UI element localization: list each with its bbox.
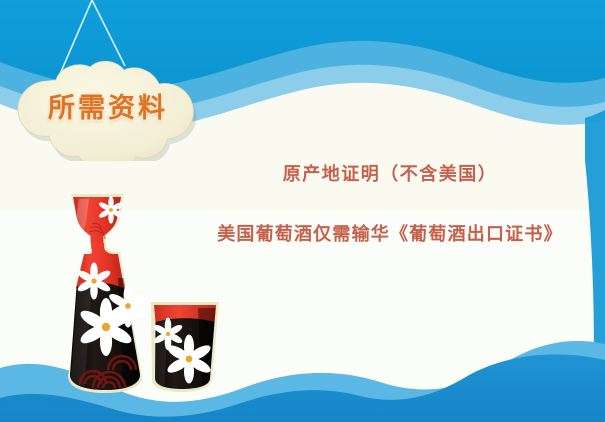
cloud-label-title: 所需资料 [8,55,208,155]
sake-set-illustration [48,188,233,400]
sake-cup [151,302,228,398]
body-text-line-1: 原产地证明（不含美国） [185,160,595,186]
sake-illustration-svg [48,188,233,400]
body-text-block: 原产地证明（不含美国） 美国葡萄酒仅需输华《葡萄酒出口证书》 [185,160,595,246]
cloud-label-callout: 所需资料 [8,55,208,161]
body-text-line-2: 美国葡萄酒仅需输华《葡萄酒出口证书》 [185,220,595,246]
slide-canvas: 所需资料 原产地证明（不含美国） 美国葡萄酒仅需输华《葡萄酒出口证书》 [0,0,605,422]
sake-bottle [68,194,149,398]
